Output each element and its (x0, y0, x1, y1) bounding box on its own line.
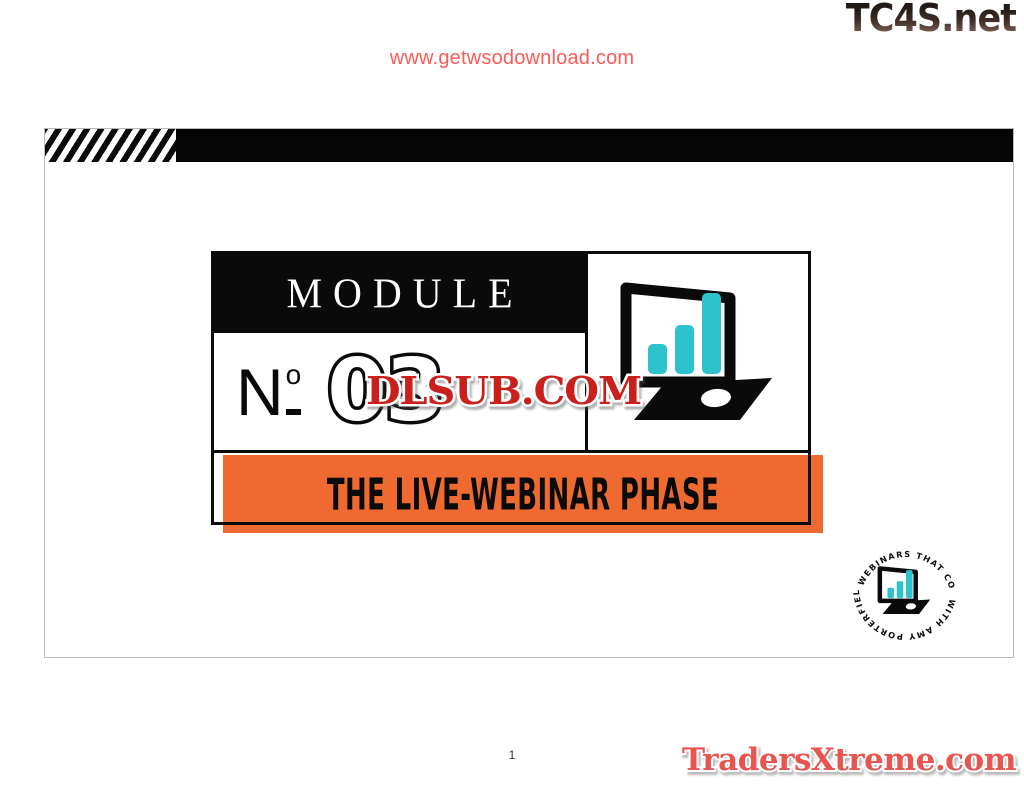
numero-letter: N (236, 359, 284, 425)
laptop-icon-cell (588, 254, 814, 450)
numero-superscript: o (286, 361, 302, 415)
badge-laptop-icon (880, 568, 930, 614)
module-label-text: MODULE (275, 273, 523, 315)
diagonal-stripe-decoration (45, 129, 176, 162)
phase-title-text: THE LIVE-WEBINAR PHASE (289, 448, 757, 540)
module-label-banner: MODULE (214, 254, 585, 333)
module-card: MODULE N o 03 (211, 251, 811, 453)
tc4s-watermark: TC4S.net (846, 0, 1016, 40)
getwso-watermark: www.getwsodownload.com (0, 47, 1024, 70)
webinars-that-convert-badge: WEBINARS THAT CONVERT WITH AMY PORTERFIE… (845, 527, 965, 647)
tradersxtreme-watermark: TradersXtreme.com (682, 742, 1016, 778)
slide-header-bar (45, 129, 1013, 162)
numero-sign: N o (236, 359, 301, 425)
dlsub-watermark: DLSUB.COM (366, 368, 641, 413)
